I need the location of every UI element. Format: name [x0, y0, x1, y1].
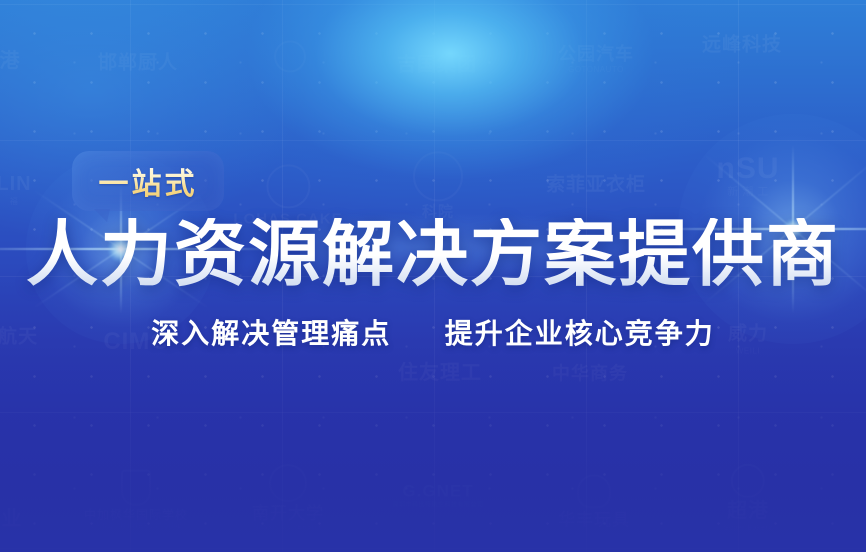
- hero-banner: 港 邯郸厨人 吉国集团 公园汽车GOTONAUTO 远峰科技 LIN福 LOHA…: [0, 0, 866, 552]
- one-stop-badge-label: 一站式: [99, 159, 198, 203]
- banner-content: 一站式 人力资源解决方案提供商 深入解决管理痛点 提升企业核心竞争力: [0, 0, 866, 552]
- banner-subtitle-left: 深入解决管理痛点: [151, 317, 391, 350]
- banner-headline: 人力资源解决方案提供商: [0, 218, 866, 290]
- banner-headline-text: 人力资源解决方案提供商: [26, 218, 840, 290]
- banner-subtitle: 深入解决管理痛点 提升企业核心竞争力: [0, 312, 866, 352]
- one-stop-badge: 一站式: [72, 151, 224, 211]
- banner-subtitle-right: 提升企业核心竞争力: [445, 317, 715, 350]
